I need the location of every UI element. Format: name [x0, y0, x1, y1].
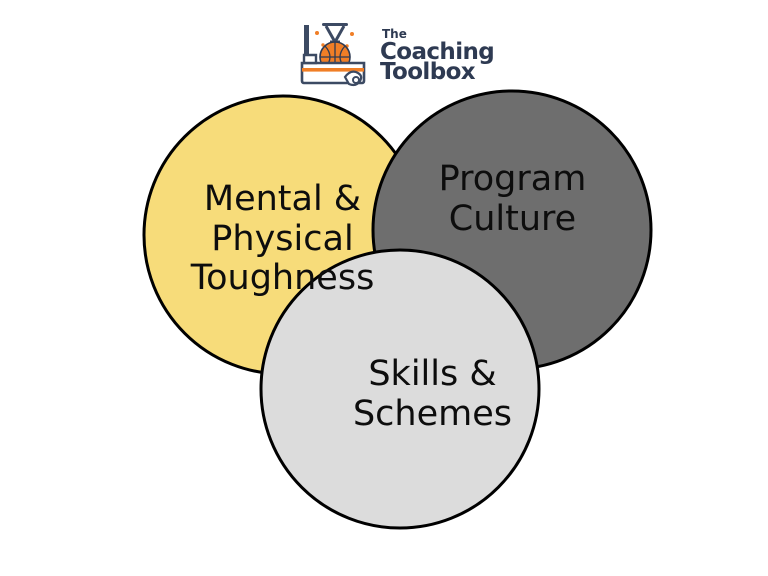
venn-diagram: Mental & Physical Toughness Program Cult…	[0, 0, 768, 576]
circle-skills-schemes[interactable]	[261, 250, 539, 528]
venn-circles	[0, 0, 768, 576]
